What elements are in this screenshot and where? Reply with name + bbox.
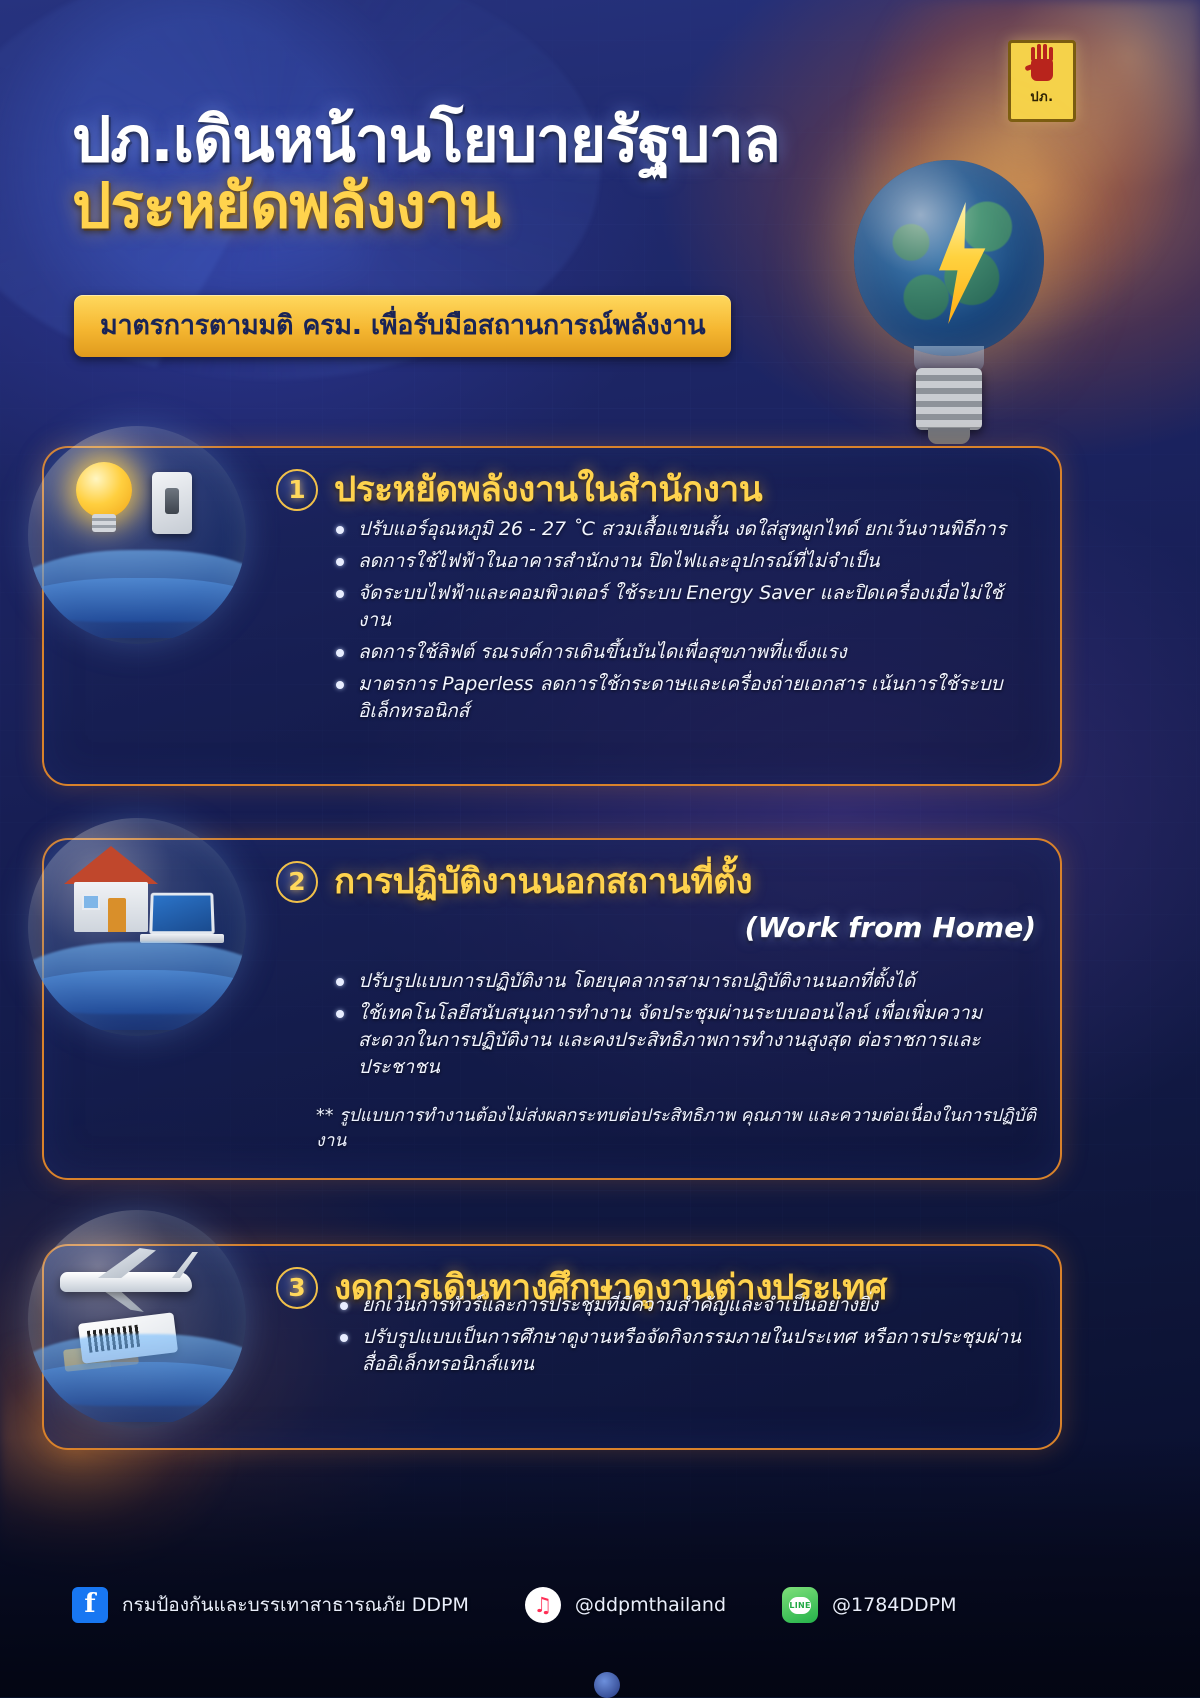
list-item: จัดระบบไฟฟ้าและคอมพิวเตอร์ ใช้ระบบ Energ… [332, 580, 1032, 634]
section-card-1: 1 ประหยัดพลังงานในสำนักงาน ปรับแอร์อุณหภ… [42, 446, 1062, 786]
list-item: ปรับรูปแบบการปฏิบัติงาน โดยบุคลากรสามารถ… [332, 968, 1032, 995]
subtitle-banner: มาตรการตามมติ ครม. เพื่อรับมือสถานการณ์พ… [74, 295, 731, 357]
tiktok-icon: ♫ [525, 1587, 561, 1623]
section-card-2: 2 การปฏิบัติงานนอกสถานที่ตั้ง (Work from… [42, 838, 1062, 1180]
section-3-illustration [28, 1210, 246, 1428]
light-switch-icon [152, 472, 192, 534]
list-item: ลดการใช้ไฟฟ้าในอาคารสำนักงาน ปิดไฟและอุป… [332, 548, 1032, 575]
logo-label: ปภ. [1030, 86, 1053, 107]
section-1-bullet-list: ปรับแอร์อุณหภูมิ 26 - 27 ˚C สวมเสื้อแขนส… [332, 516, 1032, 730]
section-1-number: 1 [276, 469, 318, 511]
tiktok-label: @ddpmthailand [575, 1594, 726, 1616]
facebook-icon: f [72, 1587, 108, 1623]
section-3-number: 3 [276, 1267, 318, 1309]
section-2-illustration [28, 818, 246, 1036]
ddpm-logo: ปภ. [1008, 40, 1076, 122]
lightbulb-icon [72, 462, 136, 536]
list-item: ใช้เทคโนโลยีสนับสนุนการทำงาน จัดประชุมผ่… [332, 1000, 1032, 1081]
page-title: ปภ.เดินหน้านโยบายรัฐบาล ประหยัดพลังงาน [72, 108, 902, 239]
subtitle-text: มาตรการตามมติ ครม. เพื่อรับมือสถานการณ์พ… [100, 310, 705, 341]
section-2-note: ** รูปแบบการทำงานต้องไม่ส่งผลกระทบต่อประ… [316, 1104, 1056, 1153]
section-card-3: 3 งดการเดินทางศึกษาดูงานต่างประเทศ ยกเว้… [42, 1244, 1062, 1450]
laptop-icon [140, 892, 224, 944]
list-item: ปรับรูปแบบเป็นการศึกษาดูงานหรือจัดกิจกรร… [336, 1324, 1036, 1378]
section-1-title: ประหยัดพลังงานในสำนักงาน [334, 462, 762, 517]
social-facebook[interactable]: f กรมป้องกันและบรรเทาสาธารณภัย DDPM [72, 1587, 469, 1623]
facebook-label: กรมป้องกันและบรรเทาสาธารณภัย DDPM [122, 1590, 469, 1620]
section-3-bullet-list: ยกเว้นการทัวร์และการประชุมที่มีความสำคัญ… [336, 1292, 1036, 1383]
list-item: ปรับแอร์อุณหภูมิ 26 - 27 ˚C สวมเสื้อแขนส… [332, 516, 1032, 543]
section-2-title: การปฏิบัติงานนอกสถานที่ตั้ง [334, 854, 752, 909]
social-tiktok[interactable]: ♫ @ddpmthailand [525, 1587, 726, 1623]
background-bottom-fade [0, 1437, 1200, 1697]
hand-icon [1027, 47, 1057, 81]
title-line-2: ประหยัดพลังงาน [72, 174, 902, 238]
section-2-number: 2 [276, 861, 318, 903]
list-item: ยกเว้นการทัวร์และการประชุมที่มีความสำคัญ… [336, 1292, 1036, 1319]
social-line[interactable]: LINE @1784DDPM [782, 1587, 956, 1623]
list-item: มาตรการ Paperless ลดการใช้กระดาษและเครื่… [332, 671, 1032, 725]
bottom-decoration-dot [594, 1672, 620, 1698]
footer-social-bar: f กรมป้องกันและบรรเทาสาธารณภัย DDPM ♫ @d… [0, 1575, 1200, 1635]
section-2-bullet-list: ปรับรูปแบบการปฏิบัติงาน โดยบุคลากรสามารถ… [332, 968, 1032, 1086]
line-label: @1784DDPM [832, 1594, 956, 1616]
list-item: ลดการใช้ลิฟต์ รณรงค์การเดินขึ้นบันไดเพื่… [332, 639, 1032, 666]
section-1-illustration [28, 426, 246, 644]
title-line-1: ปภ.เดินหน้านโยบายรัฐบาล [72, 108, 902, 172]
earth-lightbulb-icon [840, 160, 1060, 470]
line-icon: LINE [782, 1587, 818, 1623]
airplane-icon [50, 1244, 200, 1318]
